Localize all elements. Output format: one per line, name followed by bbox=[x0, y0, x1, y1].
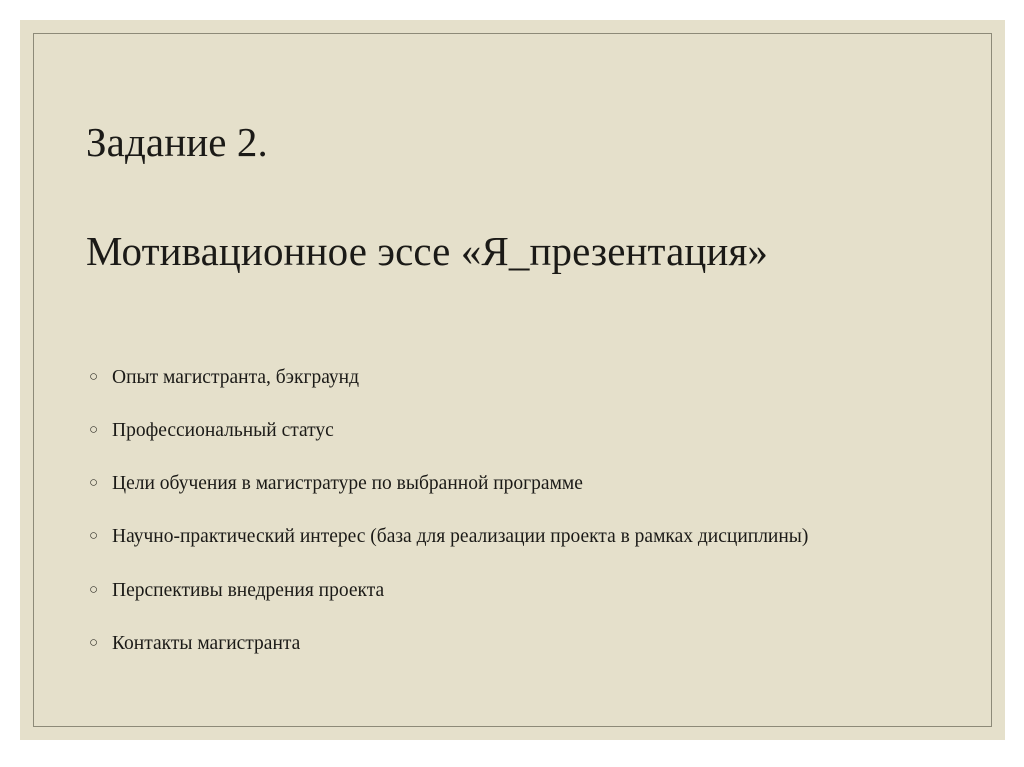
list-item: ○ Цели обучения в магистратуре по выбран… bbox=[86, 469, 894, 498]
list-item-label: Перспективы внедрения проекта bbox=[112, 576, 894, 605]
slide-title-line-2: Мотивационное эссе «Я_презентация» bbox=[86, 224, 945, 279]
bullet-circle-icon: ○ bbox=[89, 522, 103, 551]
bullet-circle-icon: ○ bbox=[89, 629, 103, 658]
list-item-label: Профессиональный статус bbox=[112, 416, 894, 445]
list-item: ○ Опыт магистранта, бэкграунд bbox=[86, 363, 894, 392]
list-item: ○ Профессиональный статус bbox=[86, 416, 894, 445]
slide-canvas: Задание 2. Мотивационное эссе «Я_презент… bbox=[20, 20, 1005, 740]
list-item: ○ Контакты магистранта bbox=[86, 629, 894, 658]
bullet-circle-icon: ○ bbox=[89, 469, 103, 498]
bullet-circle-icon: ○ bbox=[89, 363, 103, 392]
bullet-circle-icon: ○ bbox=[89, 416, 103, 445]
list-item-label: Опыт магистранта, бэкграунд bbox=[112, 363, 894, 392]
bullet-circle-icon: ○ bbox=[89, 576, 103, 605]
list-item: ○ Научно-практический интерес (база для … bbox=[86, 522, 894, 551]
slide-content-area: Задание 2. Мотивационное эссе «Я_презент… bbox=[20, 20, 1005, 740]
list-item-label: Цели обучения в магистратуре по выбранно… bbox=[112, 469, 894, 498]
slide-title: Задание 2. Мотивационное эссе «Я_презент… bbox=[86, 60, 945, 333]
list-item: ○ Перспективы внедрения проекта bbox=[86, 576, 894, 605]
list-item-label: Научно-практический интерес (база для ре… bbox=[112, 522, 894, 551]
list-item-label: Контакты магистранта bbox=[112, 629, 894, 658]
slide-title-line-1: Задание 2. bbox=[86, 115, 945, 170]
slide-bullet-list: ○ Опыт магистранта, бэкграунд ○ Професси… bbox=[86, 363, 945, 659]
